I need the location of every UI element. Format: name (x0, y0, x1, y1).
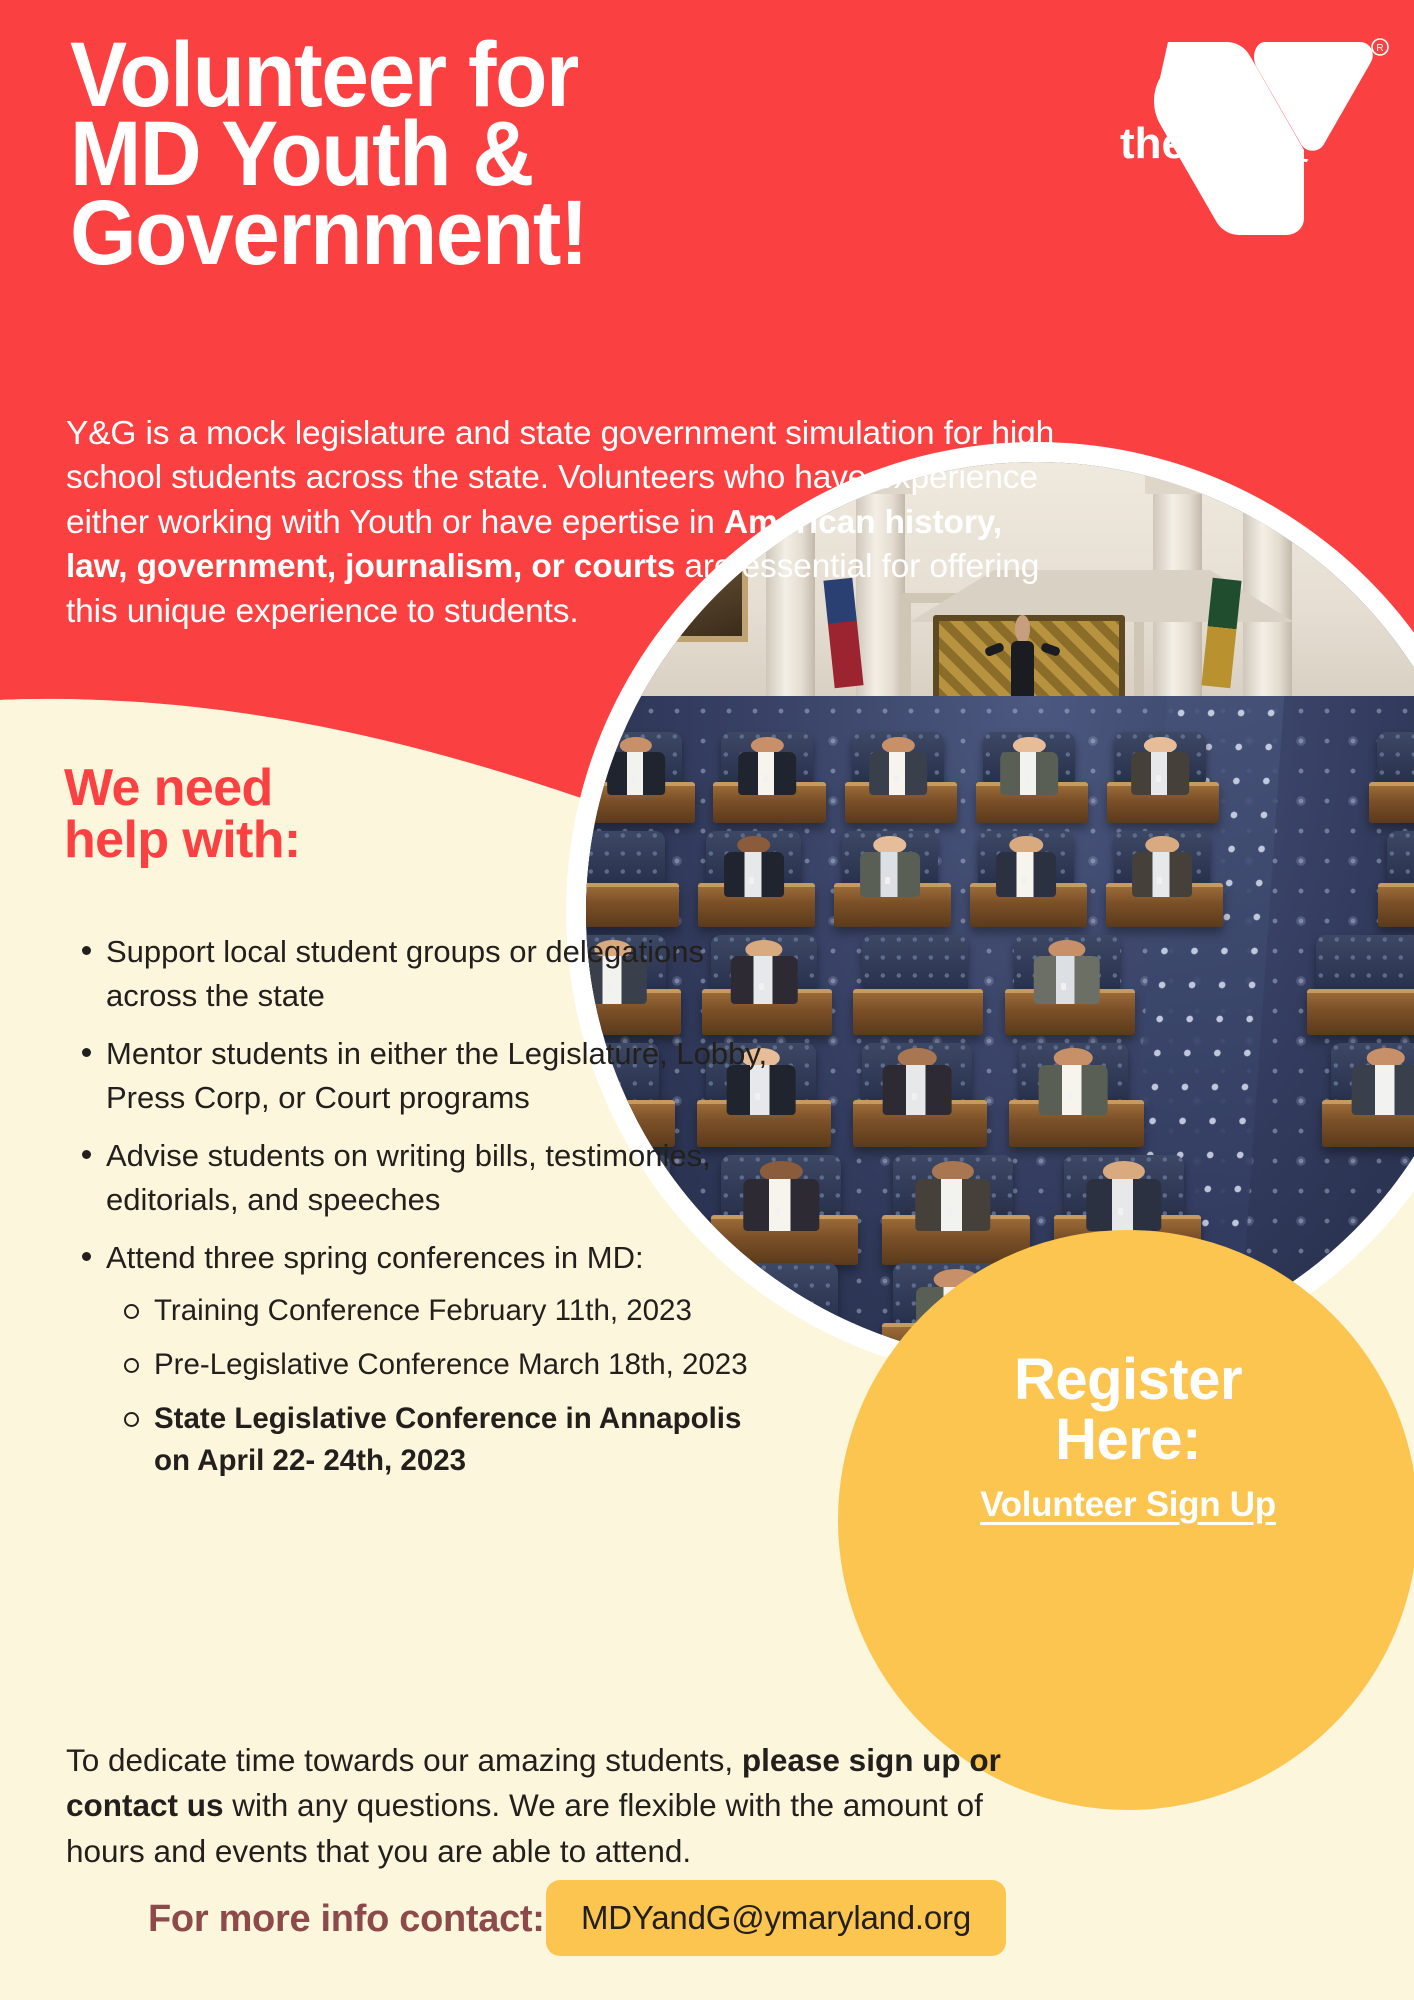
svg-text:R: R (1376, 43, 1383, 54)
bullet-text: Mentor students in either the Legislatur… (106, 1036, 767, 1115)
ymca-logo: R the YMCA (1108, 22, 1398, 237)
need-help-line-2: help with: (64, 814, 301, 866)
logo-the-text: the (1120, 119, 1186, 168)
bullet-subitem: State Legislative Conference in Annapoli… (154, 1398, 772, 1482)
register-callout[interactable]: Register Here: Volunteer Sign Up (838, 1230, 1414, 1810)
contact-email-text: MDYandG@ymaryland.org (581, 1899, 971, 1937)
bullet-subtext: Pre-Legislative Conference March 18th, 2… (154, 1348, 748, 1381)
chamber-desk (853, 989, 983, 1035)
register-line-1: Register (1014, 1350, 1242, 1410)
chamber-attendee (915, 1161, 990, 1229)
chamber-attendee (1000, 737, 1058, 793)
closing-text-1: To dedicate time towards our amazing stu… (66, 1742, 742, 1778)
chamber-desk (1307, 989, 1414, 1035)
chamber-attendee (1086, 1161, 1161, 1229)
chamber-attendee (883, 1048, 952, 1113)
bullet-text: Attend three spring conferences in MD: (106, 1240, 644, 1275)
need-help-heading: We need help with: (64, 762, 301, 866)
chamber-attendee (869, 737, 927, 793)
volunteer-sign-up-link[interactable]: Volunteer Sign Up (980, 1485, 1276, 1525)
chamber-attendee (607, 737, 665, 793)
chamber-attendee (1132, 836, 1192, 895)
bullet-item: Support local student groups or delegati… (106, 930, 772, 1018)
help-bullet-list: Support local student groups or delegati… (72, 930, 772, 1496)
page-title: Volunteer for MD Youth & Government! (70, 36, 870, 273)
chamber-seat-row (586, 831, 1414, 921)
bullet-text: Support local student groups or delegati… (106, 934, 704, 1013)
bullet-text: Advise students on writing bills, testim… (106, 1138, 711, 1217)
chamber-chair (1316, 935, 1414, 994)
chamber-chair (1377, 732, 1414, 785)
chamber-attendee (860, 836, 920, 895)
chamber-desk (586, 883, 679, 927)
chamber-chair (862, 935, 968, 994)
chamber-attendee (1132, 737, 1190, 793)
chamber-attendee (724, 836, 784, 895)
chamber-chair (1387, 831, 1414, 887)
headline-line-3: Government! (70, 194, 870, 273)
bullet-subitem: Training Conference February 11th, 2023 (154, 1290, 772, 1332)
bullet-item: Attend three spring conferences in MD:Tr… (106, 1236, 772, 1482)
bullet-root: Support local student groups or delegati… (72, 930, 772, 1482)
chamber-attendee (1033, 940, 1100, 1002)
bullet-sublist: Training Conference February 11th, 2023P… (106, 1290, 772, 1482)
bullet-item: Mentor students in either the Legislatur… (106, 1032, 772, 1120)
chamber-desk (1378, 883, 1414, 927)
contact-email-badge[interactable]: MDYandG@ymaryland.org (546, 1880, 1006, 1956)
chamber-attendee (1352, 1048, 1414, 1113)
chamber-desk (1369, 782, 1414, 824)
chamber-attendee (738, 737, 796, 793)
bullet-subtext: State Legislative Conference in Annapoli… (154, 1402, 741, 1477)
intro-paragraph: Y&G is a mock legislature and state gove… (66, 412, 1056, 635)
closing-paragraph: To dedicate time towards our amazing stu… (66, 1738, 1066, 1875)
chamber-seat-row (586, 732, 1414, 818)
contact-label: For more info contact: (148, 1898, 545, 1941)
register-line-2: Here: (1055, 1410, 1201, 1470)
bullet-subtext: Training Conference February 11th, 2023 (154, 1294, 692, 1327)
bullet-subitem: Pre-Legislative Conference March 18th, 2… (154, 1344, 772, 1386)
chamber-attendee (1039, 1048, 1108, 1113)
chamber-attendee (996, 836, 1056, 895)
bullet-item: Advise students on writing bills, testim… (106, 1134, 772, 1222)
chamber-chair (586, 831, 665, 887)
poster-canvas: R the YMCA Volunteer for MD Youth & Gove… (0, 0, 1414, 2000)
need-help-line-1: We need (64, 762, 301, 814)
registered-mark: R (1372, 39, 1388, 55)
